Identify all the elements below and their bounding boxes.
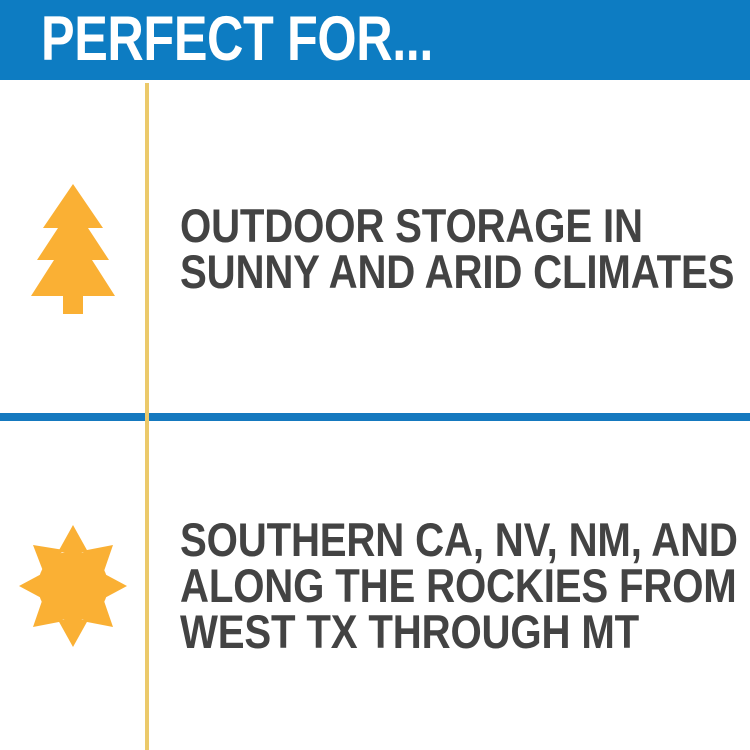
icon-cell-sun xyxy=(0,421,145,750)
section-divider-horizontal xyxy=(0,413,750,421)
feature-line: OUTDOOR STORAGE IN xyxy=(180,203,734,249)
icon-cell-pine-tree xyxy=(0,84,145,413)
text-cell-regions: SOUTHERN CA, NV, NM, AND ALONG THE ROCKI… xyxy=(145,517,750,655)
column-divider-vertical xyxy=(145,83,149,750)
feature-line: SOUTHERN CA, NV, NM, AND xyxy=(180,517,738,563)
feature-line: ALONG THE ROCKIES FROM xyxy=(180,563,738,609)
perfect-for-infographic: PERFECT FOR... OUTDOOR STORAGE IN SUNNY … xyxy=(0,0,750,750)
page-title: PERFECT FOR... xyxy=(41,4,433,74)
text-cell-outdoor-storage: OUTDOOR STORAGE IN SUNNY AND ARID CLIMAT… xyxy=(145,203,750,295)
header-banner: PERFECT FOR... xyxy=(0,0,750,80)
feature-line: WEST TX THROUGH MT xyxy=(180,609,738,655)
pine-tree-icon xyxy=(31,184,115,314)
feature-row-outdoor-storage: OUTDOOR STORAGE IN SUNNY AND ARID CLIMAT… xyxy=(0,84,750,413)
sun-icon xyxy=(19,525,127,647)
feature-row-regions: SOUTHERN CA, NV, NM, AND ALONG THE ROCKI… xyxy=(0,421,750,750)
feature-line: SUNNY AND ARID CLIMATES xyxy=(180,249,734,295)
